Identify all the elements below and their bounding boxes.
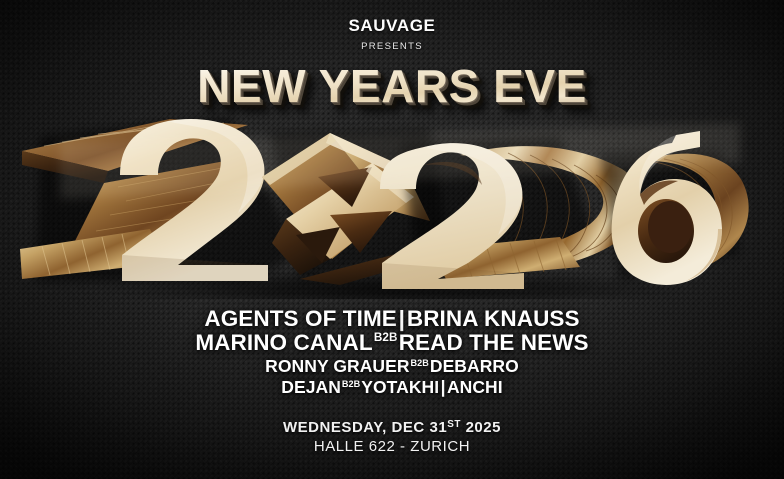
event-date-text: WEDNESDAY, DEC 31 xyxy=(283,419,447,436)
event-details: WEDNESDAY, DEC 31ST 2025 HALLE 622 - ZUR… xyxy=(283,419,501,457)
artist-anchi: ANCHI xyxy=(447,377,503,397)
event-venue: HALLE 622 - ZURICH xyxy=(283,438,501,456)
lineup-line-4: DEJANB2BYOTAKHI|ANCHI xyxy=(195,378,588,396)
artist-marino-canal: MARINO CANAL xyxy=(195,330,372,355)
b2b-label: B2B xyxy=(410,358,430,368)
year-graphic xyxy=(0,103,784,299)
artist-ronny-grauer: RONNY GRAUER xyxy=(265,356,409,376)
date-ordinal-suffix: ST xyxy=(447,419,461,430)
artist-read-the-news: READ THE NEWS xyxy=(399,330,589,355)
event-date: WEDNESDAY, DEC 31ST 2025 xyxy=(283,419,501,437)
lineup-line-2: MARINO CANALB2BREAD THE NEWS xyxy=(195,331,588,354)
artist-dejan: DEJAN xyxy=(281,377,341,397)
brand-name: SAUVAGE xyxy=(349,17,436,34)
poster-content: SAUVAGE PRESENTS NEW YEARS EVE xyxy=(0,0,784,479)
artist-agents-of-time: AGENTS OF TIME xyxy=(204,306,397,331)
event-year: 2025 xyxy=(461,419,501,436)
b2b-label: B2B xyxy=(373,331,399,344)
lineup-separator: | xyxy=(439,377,447,397)
lineup-line-1: AGENTS OF TIME|BRINA KNAUSS xyxy=(195,307,588,330)
year-2026-3d-svg xyxy=(0,103,784,299)
event-poster: SAUVAGE PRESENTS NEW YEARS EVE xyxy=(0,0,784,479)
presents-label: PRESENTS xyxy=(361,42,423,52)
lineup-line-3: RONNY GRAUERB2BDEBARRO xyxy=(195,357,588,375)
artist-debarro: DEBARRO xyxy=(430,356,519,376)
artist-brina-knauss: BRINA KNAUSS xyxy=(407,306,580,331)
b2b-label: B2B xyxy=(341,379,361,389)
lineup-separator: | xyxy=(397,306,407,331)
artist-yotakhi: YOTAKHI xyxy=(361,377,439,397)
artist-lineup: AGENTS OF TIME|BRINA KNAUSS MARINO CANAL… xyxy=(195,307,588,397)
